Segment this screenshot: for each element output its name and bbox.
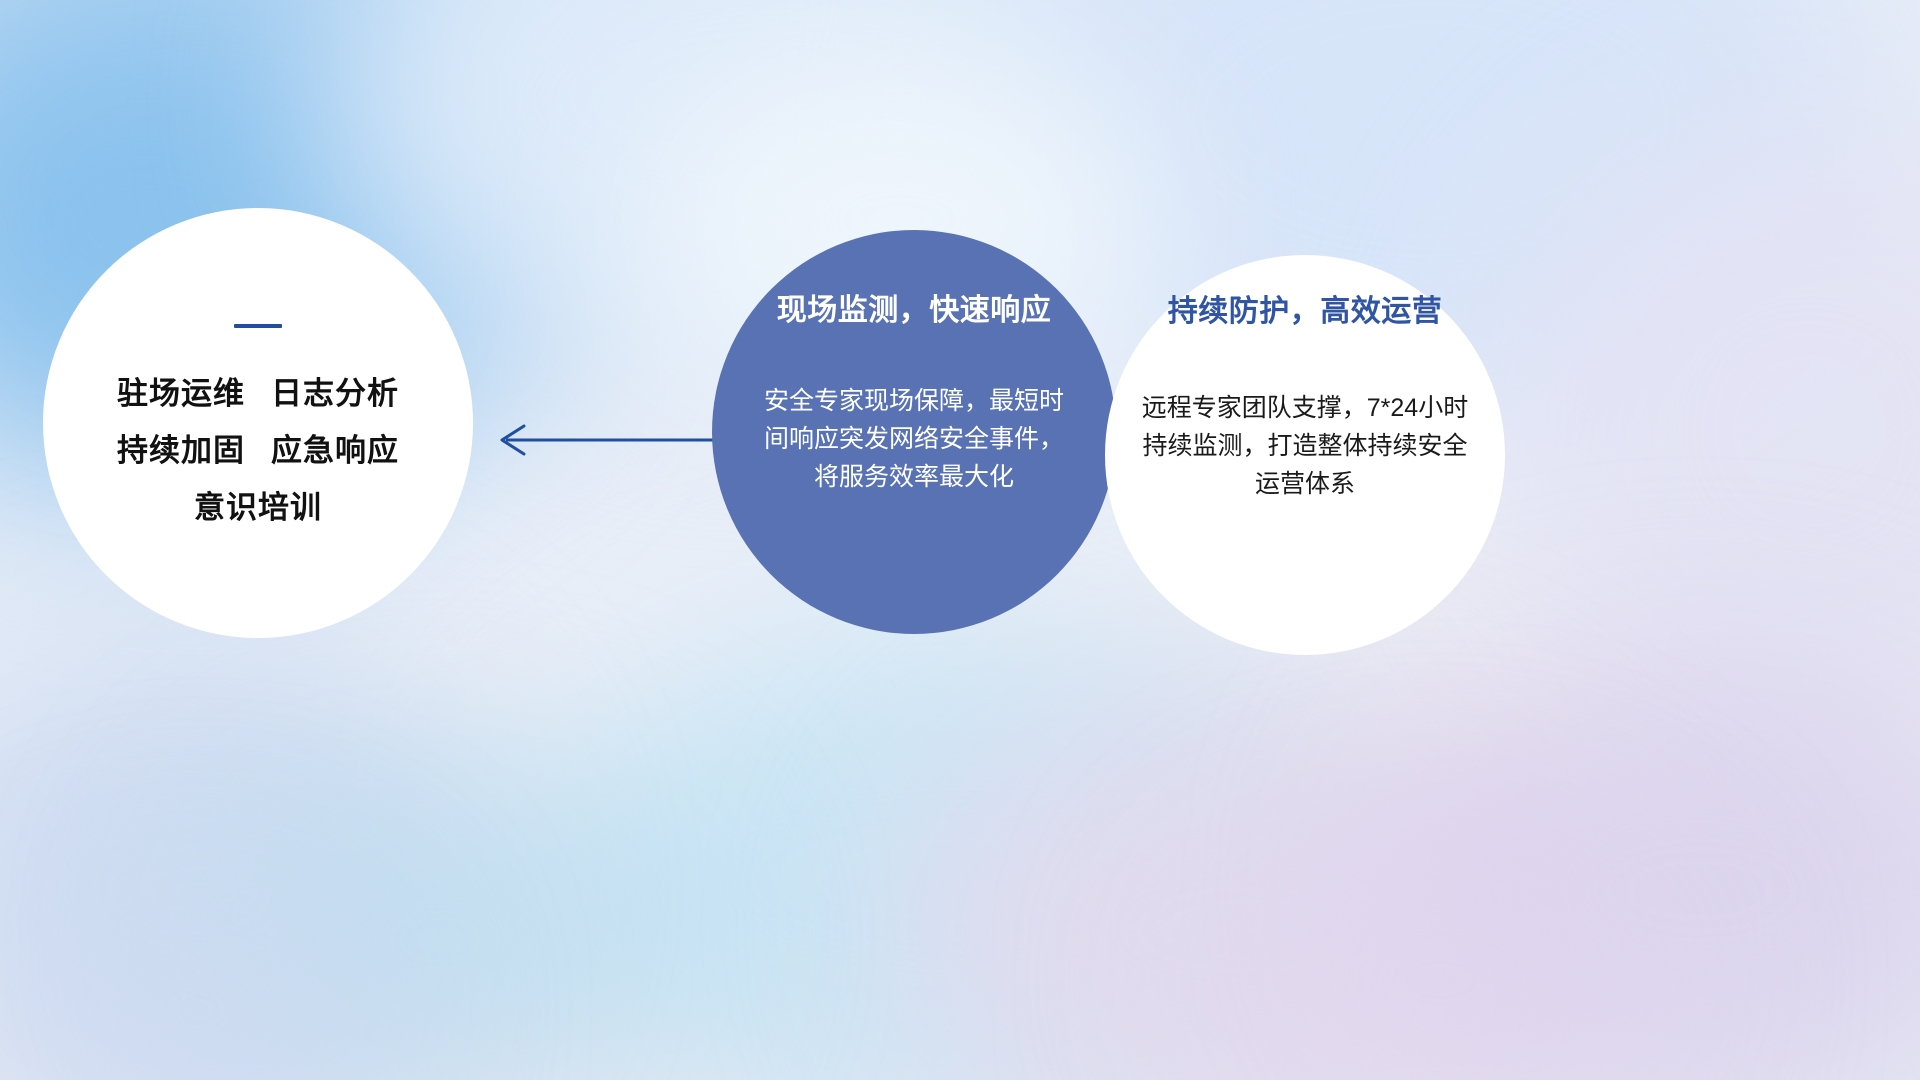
left-capability-circle[interactable]: 驻场运维日志分析 持续加固应急响应 意识培训: [43, 208, 473, 638]
right-circle-title: 持续防护，高效运营: [1168, 297, 1443, 327]
capability-list: 驻场运维日志分析 持续加固应急响应 意识培训: [117, 378, 399, 523]
center-onsite-monitoring-circle[interactable]: 现场监测，快速响应 安全专家现场保障，最短时间响应突发网络安全事件，将服务效率最…: [712, 230, 1116, 634]
right-continuous-protection-circle[interactable]: 持续防护，高效运营 远程专家团队支撑，7*24小时持续监测，打造整体持续安全运营…: [1105, 255, 1505, 655]
capability-item-awareness-training: 意识培训: [194, 490, 322, 525]
center-circle-title: 现场监测，快速响应: [777, 296, 1052, 326]
divider-dash-icon: [234, 324, 282, 328]
slide-canvas: 驻场运维日志分析 持续加固应急响应 意识培训 现场监测，快速响应 安全专家现场保…: [0, 0, 1920, 1080]
capability-row-3: 意识培训: [194, 492, 322, 523]
center-circle-body: 安全专家现场保障，最短时间响应突发网络安全事件，将服务效率最大化: [764, 382, 1064, 496]
capability-row-1: 驻场运维日志分析: [117, 378, 399, 409]
capability-item-onsite-ops: 驻场运维: [117, 376, 245, 411]
capability-item-log-analysis: 日志分析: [271, 376, 399, 411]
right-circle-body: 远程专家团队支撑，7*24小时持续监测，打造整体持续安全运营体系: [1135, 389, 1475, 503]
capability-item-continuous-hardening: 持续加固: [117, 433, 245, 468]
capability-item-emergency-response: 应急响应: [271, 433, 399, 468]
capability-row-2: 持续加固应急响应: [117, 435, 399, 466]
